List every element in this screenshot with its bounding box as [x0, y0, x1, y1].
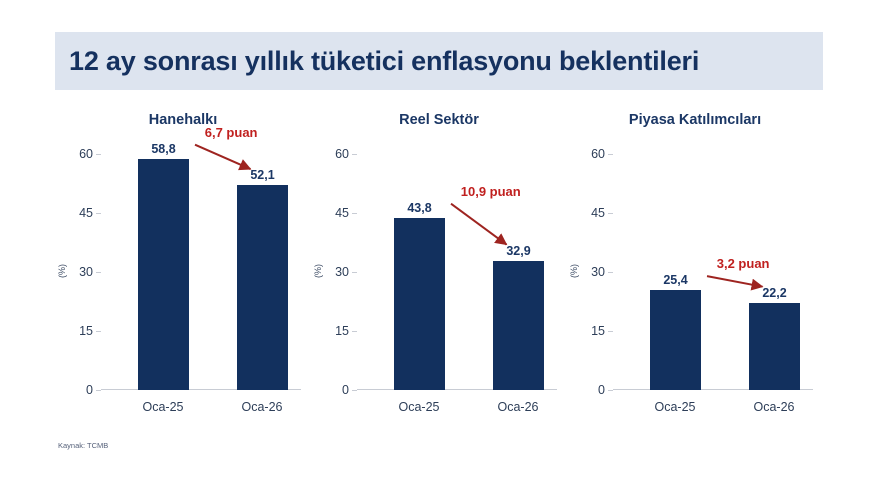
- y-tick-label: 45: [79, 206, 93, 220]
- y-tick-label: 0: [598, 383, 605, 397]
- x-tick-label: Oca-25: [374, 400, 464, 414]
- delta-annotation: 6,7 puan: [205, 125, 258, 140]
- slide-title-band: 12 ay sonrası yıllık tüketici enflasyonu…: [55, 32, 823, 90]
- bar: [138, 159, 189, 390]
- bar-value-label: 52,1: [228, 168, 298, 182]
- y-tick-label: 0: [342, 383, 349, 397]
- x-tick-label: Oca-26: [217, 400, 307, 414]
- y-tick-mark: [96, 390, 101, 391]
- slide-title: 12 ay sonrası yıllık tüketici enflasyonu…: [69, 46, 699, 77]
- delta-annotation: 3,2 puan: [717, 256, 770, 271]
- source-note: Kaynak: TCMB: [58, 441, 108, 450]
- y-tick-label: 30: [591, 265, 605, 279]
- y-tick-mark: [352, 272, 357, 273]
- y-tick-label: 60: [79, 147, 93, 161]
- bar: [493, 261, 544, 390]
- chart-title: Reel Sektör: [311, 112, 567, 128]
- y-tick-mark: [96, 272, 101, 273]
- chart-hanehalki: Hanehalkı (%) 0 15 30 45 60 58,8 52,1 Oc…: [55, 104, 311, 434]
- y-tick-mark: [608, 213, 613, 214]
- y-tick-label: 30: [335, 265, 349, 279]
- chart-reel-sektor: Reel Sektör (%) 0 15 30 45 60 43,8 32,9 …: [311, 104, 567, 434]
- bar-value-label: 25,4: [641, 273, 711, 287]
- y-tick-mark: [608, 272, 613, 273]
- y-tick-mark: [96, 331, 101, 332]
- y-axis-title: (%): [57, 264, 67, 278]
- y-tick-label: 30: [79, 265, 93, 279]
- y-axis-title: (%): [569, 264, 579, 278]
- chart-piyasa-katilimcilari: Piyasa Katılımcıları (%) 0 15 30 45 60 2…: [567, 104, 823, 434]
- x-tick-label: Oca-26: [729, 400, 819, 414]
- bar-value-label: 43,8: [385, 201, 455, 215]
- x-tick-label: Oca-26: [473, 400, 563, 414]
- y-tick-mark: [608, 390, 613, 391]
- bar-value-label: 22,2: [740, 286, 810, 300]
- y-tick-mark: [352, 154, 357, 155]
- y-tick-label: 15: [591, 324, 605, 338]
- slide-canvas: 12 ay sonrası yıllık tüketici enflasyonu…: [0, 0, 880, 495]
- bar: [237, 185, 288, 390]
- y-tick-label: 15: [79, 324, 93, 338]
- y-tick-mark: [608, 154, 613, 155]
- y-tick-mark: [608, 331, 613, 332]
- x-tick-label: Oca-25: [118, 400, 208, 414]
- y-tick-label: 0: [86, 383, 93, 397]
- y-tick-mark: [96, 154, 101, 155]
- bar-value-label: 58,8: [129, 142, 199, 156]
- chart-title: Hanehalkı: [55, 112, 311, 128]
- charts-container: Hanehalkı (%) 0 15 30 45 60 58,8 52,1 Oc…: [55, 104, 823, 434]
- y-tick-label: 45: [335, 206, 349, 220]
- bar-value-label: 32,9: [484, 244, 554, 258]
- plot-area: (%) 0 15 30 45 60 58,8 52,1 Oca-25 Oca-2…: [101, 154, 301, 390]
- delta-annotation: 10,9 puan: [461, 184, 521, 199]
- y-tick-mark: [352, 331, 357, 332]
- y-tick-mark: [352, 213, 357, 214]
- y-axis-title: (%): [313, 264, 323, 278]
- plot-area: (%) 0 15 30 45 60 43,8 32,9 Oca-25 Oca-2…: [357, 154, 557, 390]
- x-tick-label: Oca-25: [630, 400, 720, 414]
- bar: [749, 303, 800, 390]
- y-tick-mark: [96, 213, 101, 214]
- y-tick-label: 60: [591, 147, 605, 161]
- y-tick-label: 15: [335, 324, 349, 338]
- y-tick-label: 60: [335, 147, 349, 161]
- bar: [650, 290, 701, 390]
- chart-title: Piyasa Katılımcıları: [567, 112, 823, 128]
- y-tick-label: 45: [591, 206, 605, 220]
- bar: [394, 218, 445, 390]
- plot-area: (%) 0 15 30 45 60 25,4 22,2 Oca-25 Oca-2…: [613, 154, 813, 390]
- y-tick-mark: [352, 390, 357, 391]
